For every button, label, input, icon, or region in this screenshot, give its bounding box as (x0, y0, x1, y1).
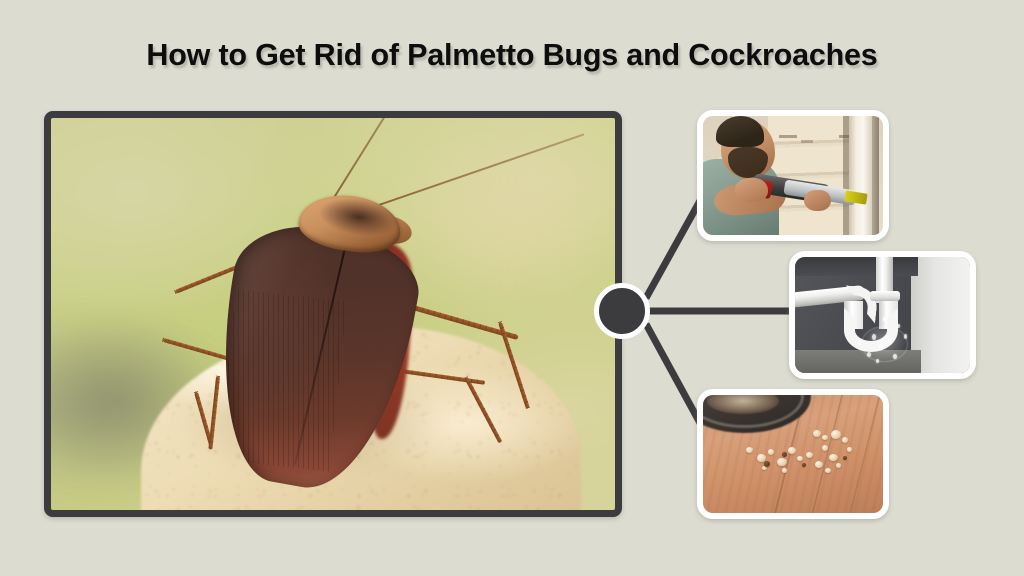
water-spray (862, 327, 908, 362)
cabinet-underside (795, 257, 918, 276)
man-hand-right (804, 190, 831, 211)
jamb-shadow (843, 116, 848, 235)
thumbnail-fix-leaks[interactable] (789, 251, 976, 379)
cockroach-body (51, 118, 615, 510)
food-crumb (822, 435, 828, 440)
diagram-hub-node (594, 283, 650, 339)
thumbnail-seal-cracks[interactable] (697, 110, 889, 241)
page-title: How to Get Rid of Palmetto Bugs and Cock… (0, 38, 1024, 73)
man-hair (716, 116, 765, 147)
leg-front-left (209, 376, 221, 449)
food-crumb (788, 447, 796, 454)
man-hand-left (735, 178, 767, 202)
food-crumb (822, 445, 828, 451)
water-drop (897, 324, 900, 328)
food-crumb (847, 447, 852, 452)
wall-gap (872, 116, 879, 235)
cockroach-wings (199, 214, 427, 501)
dark-crumb (782, 452, 787, 457)
water-drop (858, 341, 861, 345)
leg-mid-right (400, 369, 484, 385)
food-crumb (815, 461, 823, 468)
hero-image-frame (44, 111, 622, 517)
cockroach-macro-photo (51, 118, 615, 510)
thumbnail-clean-crumbs[interactable] (697, 389, 889, 519)
door-jamb (849, 116, 872, 235)
slip-nut (870, 291, 900, 301)
food-crumb (806, 452, 813, 458)
leg-front-right (465, 377, 503, 444)
water-drop (883, 317, 886, 321)
food-crumb (777, 458, 787, 466)
